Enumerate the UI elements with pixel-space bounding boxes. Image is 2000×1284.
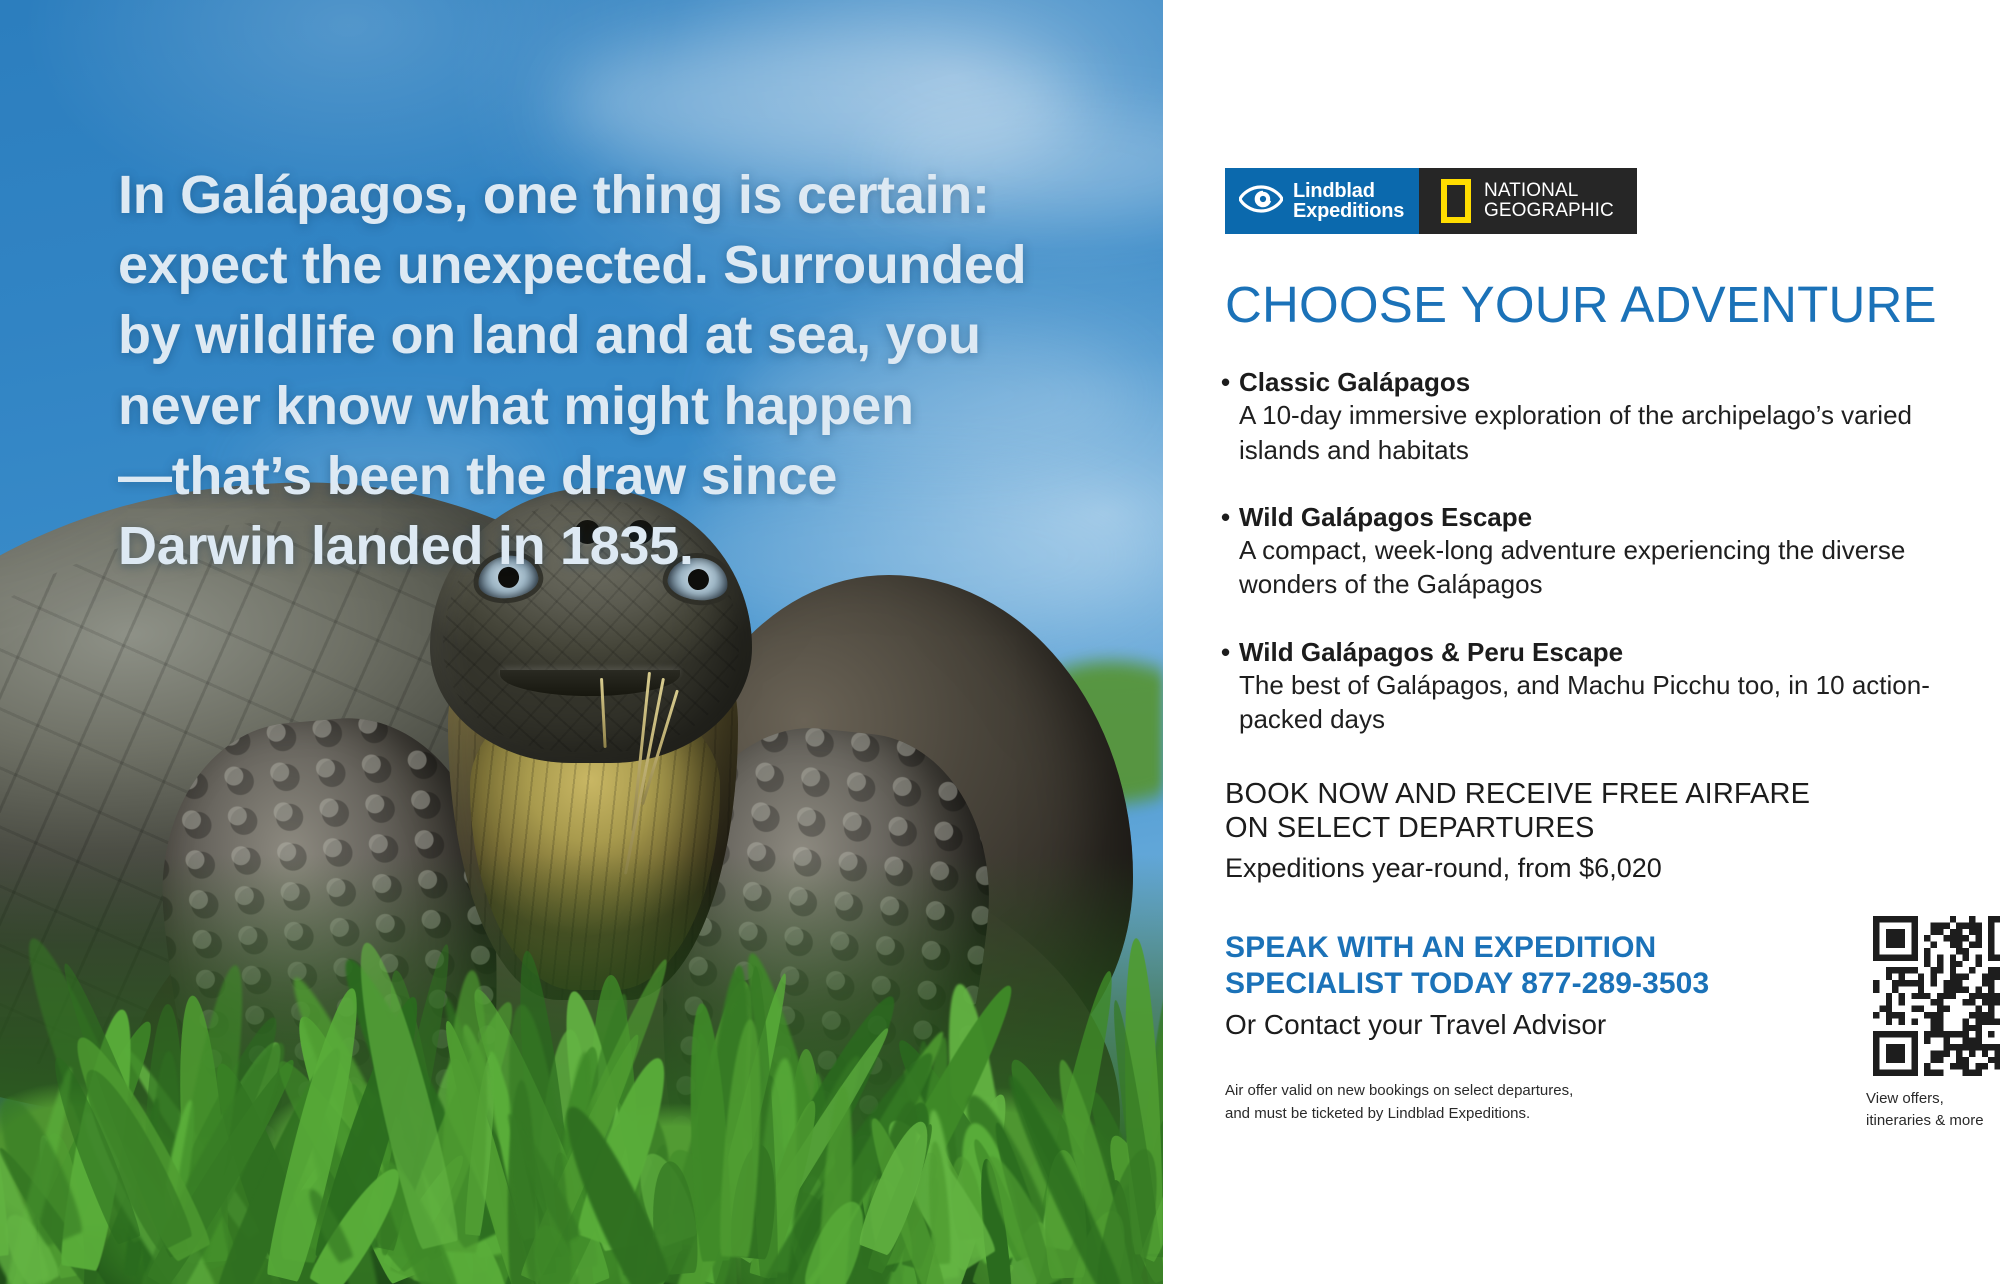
qr-code-icon[interactable]	[1873, 916, 2000, 1076]
adventure-list: •Classic GalápagosA 10-day immersive exp…	[1221, 366, 1941, 737]
natgeo-wordmark: NATIONAL GEOGRAPHIC	[1484, 181, 1614, 221]
lindblad-wordmark: Lindblad Expeditions	[1293, 181, 1404, 222]
lindblad-expeditions-logo: Lindblad Expeditions	[1225, 168, 1419, 234]
bullet-icon: •	[1221, 501, 1237, 533]
disclaimer: Air offer valid on new bookings on selec…	[1225, 1080, 1844, 1125]
adventure-title: •Wild Galápagos & Peru Escape	[1221, 636, 1941, 668]
qr-caption-line2: itineraries & more	[1866, 1110, 2000, 1131]
adventure-description: A compact, week-long adventure experienc…	[1239, 533, 1941, 602]
disclaimer-line2: and must be ticketed by Lindblad Expedit…	[1225, 1103, 1844, 1126]
offer-headline: BOOK NOW AND RECEIVE FREE AIRFARE ON SEL…	[1225, 777, 1925, 845]
hero-headline-line-6: Darwin landed in 1835.	[118, 511, 1048, 581]
qr-caption: View offers, itineraries & more	[1860, 1088, 2000, 1131]
contact-row: SPEAK WITH AN EXPEDITION SPECIALIST TODA…	[1225, 930, 2000, 1131]
hero-headline: In Galápagos, one thing is certain:expec…	[118, 160, 1048, 581]
adventure-title-label: Wild Galápagos Escape	[1239, 501, 1532, 533]
offer-headline-line1: BOOK NOW AND RECEIVE FREE AIRFARE	[1225, 777, 1925, 811]
offer-block: BOOK NOW AND RECEIVE FREE AIRFARE ON SEL…	[1225, 777, 1925, 885]
qr-block: View offers, itineraries & more	[1860, 916, 2000, 1131]
contact-headline-line1: SPEAK WITH AN EXPEDITION	[1225, 930, 1844, 966]
hero-headline-line-2: expect the unexpected. Surrounded	[118, 230, 1048, 300]
adventure-title: •Wild Galápagos Escape	[1221, 501, 1941, 533]
bullet-icon: •	[1221, 636, 1237, 668]
natgeo-wordmark-line1: NATIONAL	[1484, 181, 1614, 201]
qr-caption-line1: View offers,	[1866, 1088, 2000, 1109]
eye-icon	[1239, 185, 1283, 218]
adventure-title: •Classic Galápagos	[1221, 366, 1941, 398]
hero-photo-panel: In Galápagos, one thing is certain:expec…	[0, 0, 1163, 1284]
adventure-item-1[interactable]: •Classic GalápagosA 10-day immersive exp…	[1221, 366, 1941, 467]
bullet-icon: •	[1221, 366, 1237, 398]
contact-subline: Or Contact your Travel Advisor	[1225, 1008, 1844, 1042]
adventure-title-label: Classic Galápagos	[1239, 366, 1470, 398]
hero-headline-line-4: never know what might happen	[118, 371, 1048, 441]
disclaimer-line1: Air offer valid on new bookings on selec…	[1225, 1080, 1844, 1103]
advertisement-root: In Galápagos, one thing is certain:expec…	[0, 0, 2000, 1284]
offer-headline-line2: ON SELECT DEPARTURES	[1225, 811, 1925, 845]
offer-subline: Expeditions year-round, from $6,020	[1225, 852, 1925, 884]
contact-phone-line[interactable]: SPECIALIST TODAY 877-289-3503	[1225, 966, 1844, 1002]
adventure-description: The best of Galápagos, and Machu Picchu …	[1239, 668, 1941, 737]
brand-logo-lockup: Lindblad Expeditions NATIONAL GEOGRAPHIC	[1225, 168, 1637, 234]
national-geographic-logo: NATIONAL GEOGRAPHIC	[1419, 168, 1637, 234]
content-panel: Lindblad Expeditions NATIONAL GEOGRAPHIC…	[1163, 0, 2000, 1284]
lindblad-wordmark-line1: Lindblad	[1293, 181, 1404, 201]
adventure-description: A 10-day immersive exploration of the ar…	[1239, 398, 1941, 467]
contact-text-block: SPEAK WITH AN EXPEDITION SPECIALIST TODA…	[1225, 930, 1860, 1125]
contact-headline[interactable]: SPEAK WITH AN EXPEDITION SPECIALIST TODA…	[1225, 930, 1844, 1002]
hero-headline-line-3: by wildlife on land and at sea, you	[118, 300, 1048, 370]
lindblad-wordmark-line2: Expeditions	[1293, 201, 1404, 221]
foreground-foliage	[0, 854, 1163, 1284]
natgeo-wordmark-line2: GEOGRAPHIC	[1484, 201, 1614, 221]
adventure-item-3[interactable]: •Wild Galápagos & Peru EscapeThe best of…	[1221, 636, 1941, 737]
section-heading: CHOOSE YOUR ADVENTURE	[1225, 278, 2000, 332]
adventure-item-2[interactable]: •Wild Galápagos EscapeA compact, week-lo…	[1221, 501, 1941, 602]
adventure-title-label: Wild Galápagos & Peru Escape	[1239, 636, 1623, 668]
hero-headline-line-5: —that’s been the draw since	[118, 441, 1048, 511]
natgeo-yellow-rectangle-icon	[1441, 179, 1471, 223]
hero-headline-line-1: In Galápagos, one thing is certain:	[118, 160, 1048, 230]
